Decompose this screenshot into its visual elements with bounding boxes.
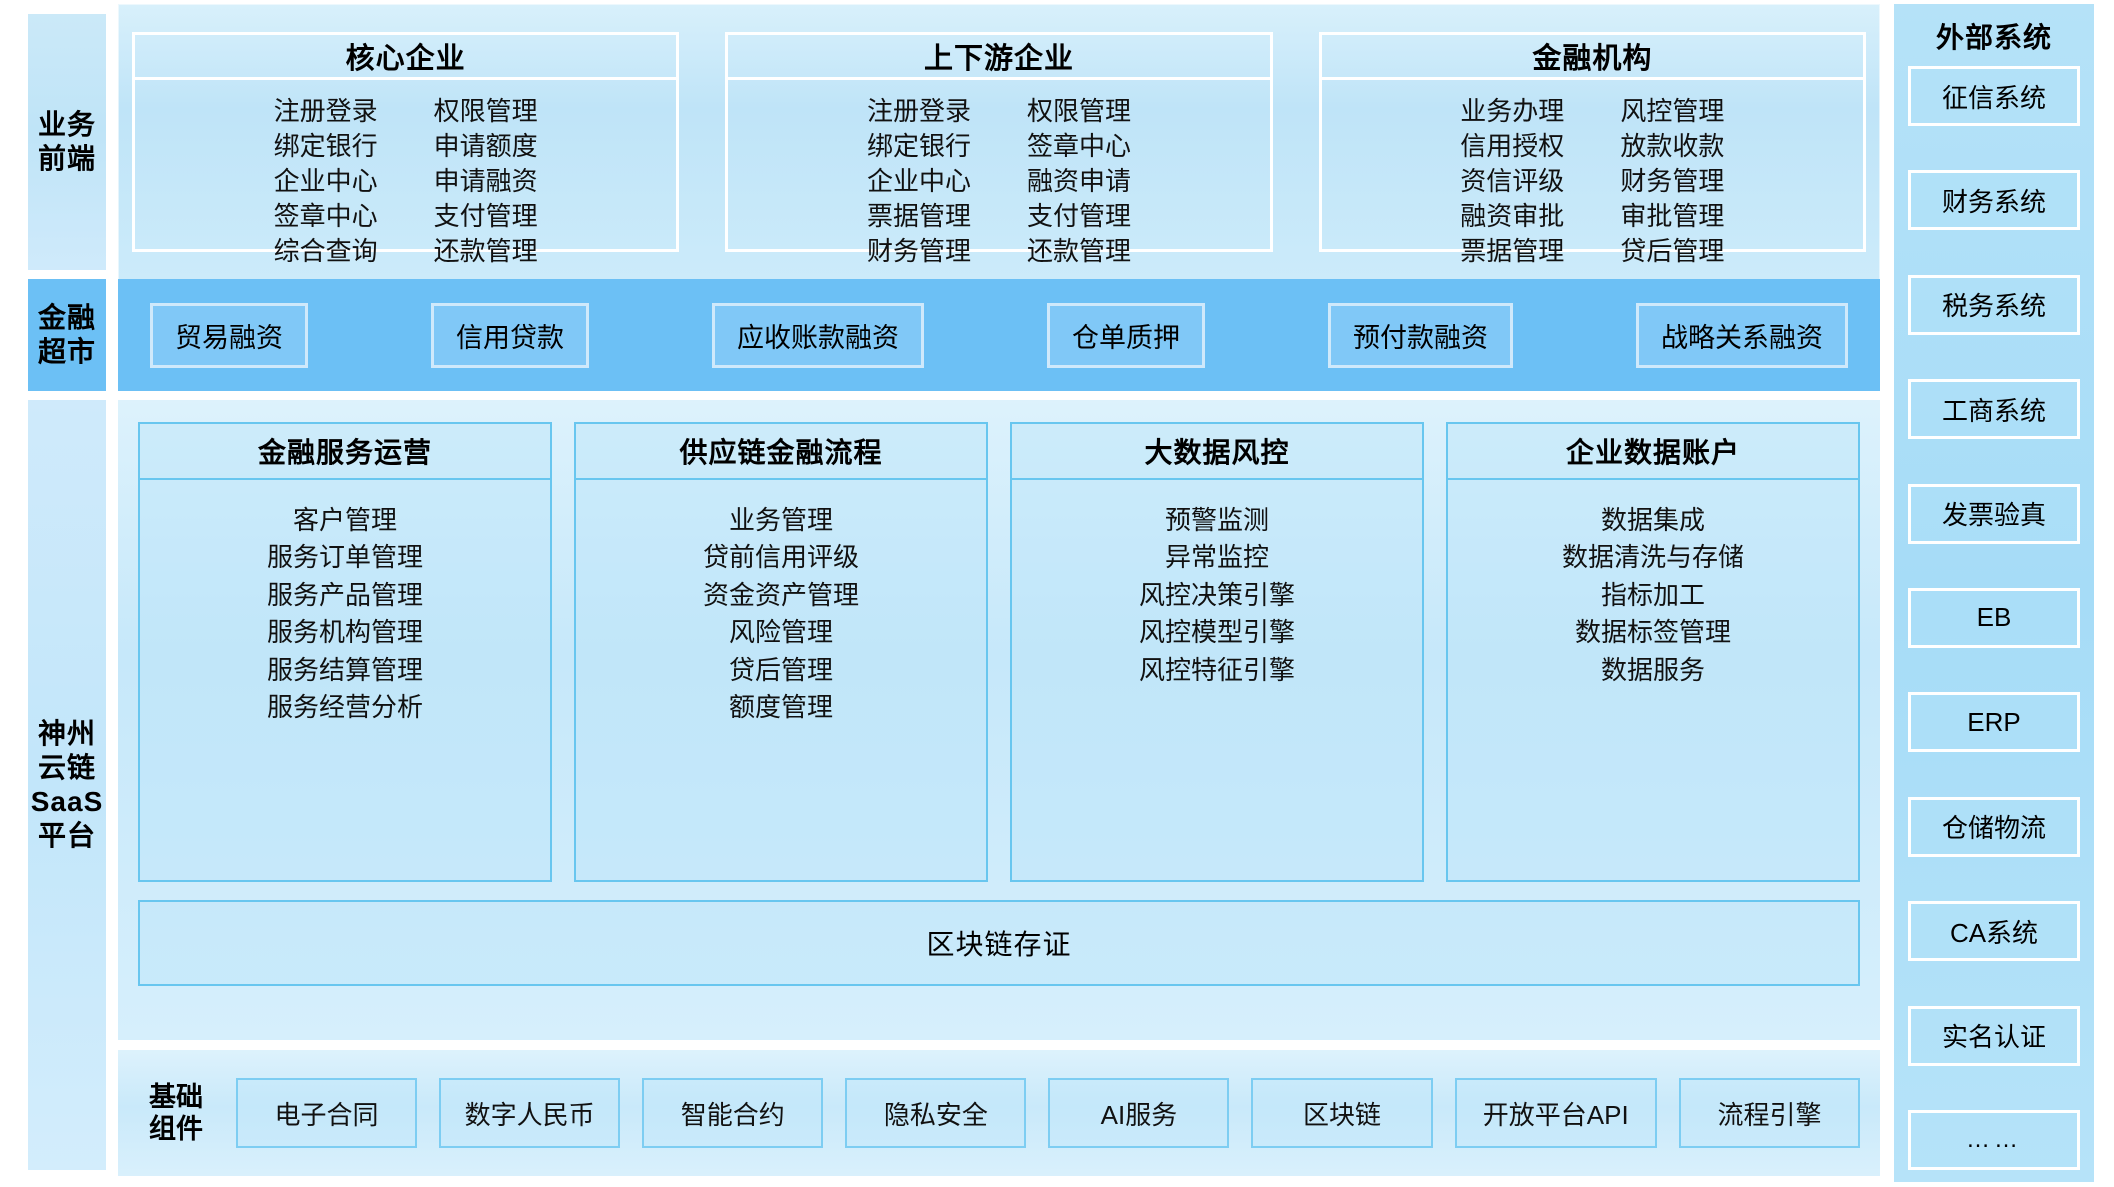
module-item[interactable]: 客户管理 xyxy=(293,502,397,539)
layer-label-financial-market-text: 金融超市 xyxy=(38,301,96,369)
feature-item[interactable]: 签章中心 xyxy=(274,199,378,234)
card-title: 企业数据账户 xyxy=(1448,424,1858,480)
feature-item[interactable]: 贷后管理 xyxy=(1620,234,1724,269)
feature-column-left: 业务办理 信用授权 资信评级 融资审批 票据管理 xyxy=(1460,94,1564,269)
base-component-privacy-security[interactable]: 隐私安全 xyxy=(845,1078,1026,1148)
financial-product-strategic-relationship-financing[interactable]: 战略关系融资 xyxy=(1636,303,1848,368)
card-body: 数据集成 数据清洗与存储 指标加工 数据标签管理 数据服务 xyxy=(1448,480,1858,880)
external-systems-title: 外部系统 xyxy=(1936,16,2052,56)
feature-column-right: 权限管理 申请额度 申请融资 支付管理 还款管理 xyxy=(434,94,538,269)
external-system-ca[interactable]: CA系统 xyxy=(1908,901,2080,961)
feature-item[interactable]: 财务管理 xyxy=(867,234,971,269)
feature-item[interactable]: 审批管理 xyxy=(1620,199,1724,234)
base-components-row: 基础组件 电子合同 数字人民币 智能合约 隐私安全 AI服务 区块链 开放平台A… xyxy=(138,1050,1860,1176)
blockchain-evidence-bar[interactable]: 区块链存证 xyxy=(138,900,1860,986)
feature-item[interactable]: 票据管理 xyxy=(1460,234,1564,269)
financial-product-warehouse-receipt-pledge[interactable]: 仓单质押 xyxy=(1047,303,1205,368)
feature-item[interactable]: 支付管理 xyxy=(434,199,538,234)
frontend-card-core-enterprise[interactable]: 核心企业 注册登录 绑定银行 企业中心 签章中心 综合查询 权限管理 申请额度 … xyxy=(132,32,679,252)
base-components-panel: 基础组件 电子合同 数字人民币 智能合约 隐私安全 AI服务 区块链 开放平台A… xyxy=(118,1050,1880,1176)
external-system-credit-reporting[interactable]: 征信系统 xyxy=(1908,66,2080,126)
module-item[interactable]: 异常监控 xyxy=(1165,539,1269,576)
external-system-finance[interactable]: 财务系统 xyxy=(1908,170,2080,230)
feature-column-left: 注册登录 绑定银行 企业中心 票据管理 财务管理 xyxy=(867,94,971,269)
module-item[interactable]: 资金资产管理 xyxy=(703,577,859,614)
external-systems-list: 征信系统 财务系统 税务系统 工商系统 发票验真 EB ERP 仓储物流 CA系… xyxy=(1908,66,2080,1172)
module-item[interactable]: 服务机构管理 xyxy=(267,614,423,651)
external-systems-panel: 外部系统 征信系统 财务系统 税务系统 工商系统 发票验真 EB ERP 仓储物… xyxy=(1894,4,2094,1182)
saas-card-financial-service-operation[interactable]: 金融服务运营 客户管理 服务订单管理 服务产品管理 服务机构管理 服务结算管理 … xyxy=(138,422,552,882)
layer-label-business-frontend-text: 业务前端 xyxy=(38,108,96,176)
base-component-electronic-contract[interactable]: 电子合同 xyxy=(236,1078,417,1148)
feature-item[interactable]: 权限管理 xyxy=(1027,94,1131,129)
module-item[interactable]: 数据标签管理 xyxy=(1575,614,1731,651)
module-item[interactable]: 数据集成 xyxy=(1601,502,1705,539)
external-system-business-registration[interactable]: 工商系统 xyxy=(1908,379,2080,439)
feature-item[interactable]: 票据管理 xyxy=(867,199,971,234)
layer-label-saas-platform: 神州云链SaaS平台 xyxy=(28,400,106,1170)
card-body: 预警监测 异常监控 风控决策引擎 风控模型引擎 风控特征引擎 xyxy=(1012,480,1422,880)
feature-item[interactable]: 签章中心 xyxy=(1027,129,1131,164)
business-frontend-card-list: 核心企业 注册登录 绑定银行 企业中心 签章中心 综合查询 权限管理 申请额度 … xyxy=(132,32,1866,252)
layer-label-financial-market: 金融超市 xyxy=(28,279,106,391)
feature-item[interactable]: 还款管理 xyxy=(1027,234,1131,269)
layer-label-saas-platform-text: 神州云链SaaS平台 xyxy=(31,717,104,854)
feature-item[interactable]: 信用授权 xyxy=(1460,129,1564,164)
feature-item[interactable]: 资信评级 xyxy=(1460,164,1564,199)
base-component-process-engine[interactable]: 流程引擎 xyxy=(1679,1078,1860,1148)
module-item[interactable]: 风险管理 xyxy=(729,614,833,651)
external-system-erp[interactable]: ERP xyxy=(1908,692,2080,752)
module-item[interactable]: 数据服务 xyxy=(1601,652,1705,689)
module-item[interactable]: 额度管理 xyxy=(729,689,833,726)
feature-item[interactable]: 放款收款 xyxy=(1620,129,1724,164)
module-item[interactable]: 预警监测 xyxy=(1165,502,1269,539)
financial-product-credit-loan[interactable]: 信用贷款 xyxy=(431,303,589,368)
external-system-invoice-verification[interactable]: 发票验真 xyxy=(1908,484,2080,544)
card-body: 注册登录 绑定银行 企业中心 票据管理 财务管理 权限管理 签章中心 融资申请 … xyxy=(728,80,1269,269)
module-item[interactable]: 贷后管理 xyxy=(729,652,833,689)
feature-item[interactable]: 申请融资 xyxy=(434,164,538,199)
blockchain-evidence-label: 区块链存证 xyxy=(926,923,1071,963)
external-system-real-name-authentication[interactable]: 实名认证 xyxy=(1908,1006,2080,1066)
card-body: 业务管理 贷前信用评级 资金资产管理 风险管理 贷后管理 额度管理 xyxy=(576,480,986,880)
saas-card-big-data-risk-control[interactable]: 大数据风控 预警监测 异常监控 风控决策引擎 风控模型引擎 风控特征引擎 xyxy=(1010,422,1424,882)
frontend-card-financial-institution[interactable]: 金融机构 业务办理 信用授权 资信评级 融资审批 票据管理 风控管理 放款收款 … xyxy=(1319,32,1866,252)
card-body: 业务办理 信用授权 资信评级 融资审批 票据管理 风控管理 放款收款 财务管理 … xyxy=(1322,80,1863,269)
frontend-card-upstream-downstream-enterprise[interactable]: 上下游企业 注册登录 绑定银行 企业中心 票据管理 财务管理 权限管理 签章中心… xyxy=(725,32,1272,252)
feature-item[interactable]: 业务办理 xyxy=(1460,94,1564,129)
saas-platform-panel: 金融服务运营 客户管理 服务订单管理 服务产品管理 服务机构管理 服务结算管理 … xyxy=(118,400,1880,1040)
module-item[interactable]: 指标加工 xyxy=(1601,577,1705,614)
base-component-open-platform-api[interactable]: 开放平台API xyxy=(1455,1078,1657,1148)
feature-item[interactable]: 还款管理 xyxy=(434,234,538,269)
module-item[interactable]: 业务管理 xyxy=(729,502,833,539)
external-system-more-ellipsis[interactable]: …… xyxy=(1908,1110,2080,1170)
feature-column-left: 注册登录 绑定银行 企业中心 签章中心 综合查询 xyxy=(274,94,378,269)
external-system-warehouse-logistics[interactable]: 仓储物流 xyxy=(1908,797,2080,857)
saas-card-list: 金融服务运营 客户管理 服务订单管理 服务产品管理 服务机构管理 服务结算管理 … xyxy=(138,422,1860,882)
saas-card-enterprise-data-account[interactable]: 企业数据账户 数据集成 数据清洗与存储 指标加工 数据标签管理 数据服务 xyxy=(1446,422,1860,882)
feature-item[interactable]: 财务管理 xyxy=(1620,164,1724,199)
module-item[interactable]: 风控模型引擎 xyxy=(1139,614,1295,651)
card-title: 大数据风控 xyxy=(1012,424,1422,480)
module-item[interactable]: 服务结算管理 xyxy=(267,652,423,689)
base-component-ai-service[interactable]: AI服务 xyxy=(1048,1078,1229,1148)
feature-item[interactable]: 权限管理 xyxy=(434,94,538,129)
financial-market-panel: 贸易融资 信用贷款 应收账款融资 仓单质押 预付款融资 战略关系融资 xyxy=(118,279,1880,391)
card-title: 金融服务运营 xyxy=(140,424,550,480)
module-item[interactable]: 服务产品管理 xyxy=(267,577,423,614)
feature-item[interactable]: 支付管理 xyxy=(1027,199,1131,234)
external-system-tax[interactable]: 税务系统 xyxy=(1908,275,2080,335)
card-title: 供应链金融流程 xyxy=(576,424,986,480)
base-component-blockchain[interactable]: 区块链 xyxy=(1251,1078,1432,1148)
feature-column-right: 风控管理 放款收款 财务管理 审批管理 贷后管理 xyxy=(1620,94,1724,269)
feature-item[interactable]: 申请额度 xyxy=(434,129,538,164)
feature-item[interactable]: 融资申请 xyxy=(1027,164,1131,199)
module-item[interactable]: 服务订单管理 xyxy=(267,539,423,576)
feature-item[interactable]: 注册登录 xyxy=(867,94,971,129)
layer-label-business-frontend: 业务前端 xyxy=(28,14,106,270)
saas-card-supply-chain-finance-process[interactable]: 供应链金融流程 业务管理 贷前信用评级 资金资产管理 风险管理 贷后管理 额度管… xyxy=(574,422,988,882)
card-title: 上下游企业 xyxy=(728,35,1269,80)
feature-column-right: 权限管理 签章中心 融资申请 支付管理 还款管理 xyxy=(1027,94,1131,269)
financial-product-trade-financing[interactable]: 贸易融资 xyxy=(150,303,308,368)
external-system-eb[interactable]: EB xyxy=(1908,588,2080,648)
layer-label-base-components: 基础组件 xyxy=(138,1081,214,1146)
financial-market-item-list: 贸易融资 信用贷款 应收账款融资 仓单质押 预付款融资 战略关系融资 xyxy=(140,279,1858,391)
feature-item[interactable]: 绑定银行 xyxy=(274,129,378,164)
card-body: 客户管理 服务订单管理 服务产品管理 服务机构管理 服务结算管理 服务经营分析 xyxy=(140,480,550,880)
base-component-digital-rmb[interactable]: 数字人民币 xyxy=(439,1078,620,1148)
feature-item[interactable]: 综合查询 xyxy=(274,234,378,269)
feature-item[interactable]: 风控管理 xyxy=(1620,94,1724,129)
module-item[interactable]: 风控特征引擎 xyxy=(1139,652,1295,689)
feature-item[interactable]: 企业中心 xyxy=(274,164,378,199)
card-body: 注册登录 绑定银行 企业中心 签章中心 综合查询 权限管理 申请额度 申请融资 … xyxy=(135,80,676,269)
module-item[interactable]: 风控决策引擎 xyxy=(1139,577,1295,614)
feature-item[interactable]: 绑定银行 xyxy=(867,129,971,164)
financial-product-receivables-financing[interactable]: 应收账款融资 xyxy=(712,303,924,368)
card-title: 金融机构 xyxy=(1322,35,1863,80)
module-item[interactable]: 服务经营分析 xyxy=(267,689,423,726)
business-frontend-panel: 核心企业 注册登录 绑定银行 企业中心 签章中心 综合查询 权限管理 申请额度 … xyxy=(118,4,1880,280)
module-item[interactable]: 数据清洗与存储 xyxy=(1562,539,1744,576)
card-title: 核心企业 xyxy=(135,35,676,80)
base-component-smart-contract[interactable]: 智能合约 xyxy=(642,1078,823,1148)
architecture-diagram: 业务前端 金融超市 神州云链SaaS平台 核心企业 注册登录 绑定银行 企业中心… xyxy=(0,0,2114,1187)
feature-item[interactable]: 注册登录 xyxy=(274,94,378,129)
feature-item[interactable]: 企业中心 xyxy=(867,164,971,199)
module-item[interactable]: 贷前信用评级 xyxy=(703,539,859,576)
financial-product-prepayment-financing[interactable]: 预付款融资 xyxy=(1328,303,1513,368)
feature-item[interactable]: 融资审批 xyxy=(1460,199,1564,234)
